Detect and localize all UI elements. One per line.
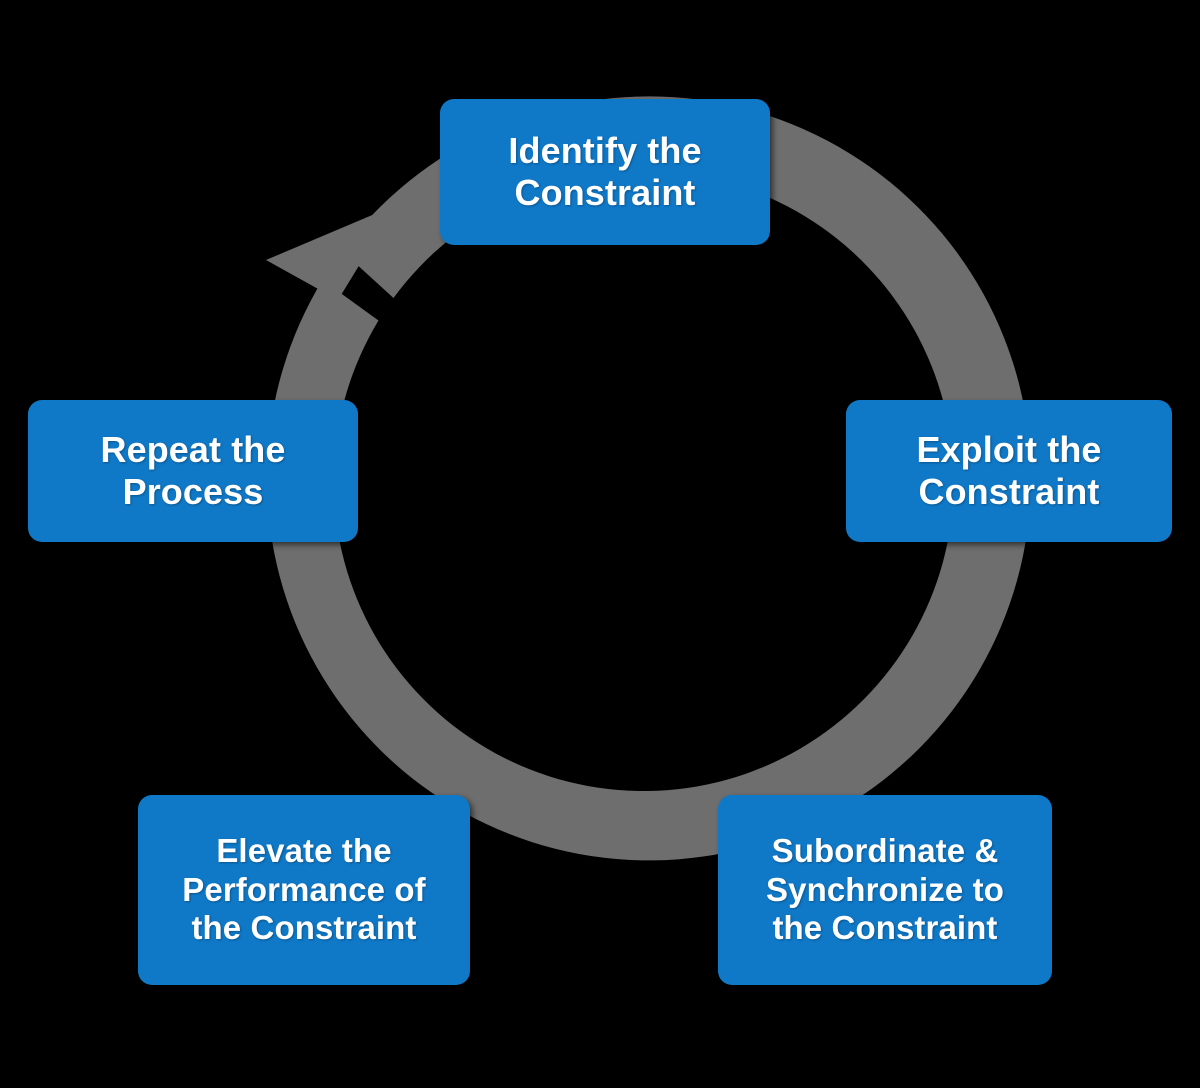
cycle-node-subordinate-label: Subordinate & Synchronize to the Constra… — [766, 832, 1004, 949]
cycle-node-repeat[interactable]: Repeat the Process — [28, 400, 358, 542]
cycle-node-exploit[interactable]: Exploit the Constraint — [846, 400, 1172, 542]
cycle-node-identify[interactable]: Identify the Constraint — [440, 99, 770, 245]
cycle-node-elevate[interactable]: Elevate the Performance of the Constrain… — [138, 795, 470, 985]
cycle-node-exploit-label: Exploit the Constraint — [916, 429, 1101, 514]
cycle-node-subordinate[interactable]: Subordinate & Synchronize to the Constra… — [718, 795, 1052, 985]
cycle-node-repeat-label: Repeat the Process — [100, 429, 285, 514]
cycle-node-elevate-label: Elevate the Performance of the Constrain… — [182, 832, 425, 949]
cycle-node-identify-label: Identify the Constraint — [508, 130, 701, 215]
cycle-diagram: Identify the Constraint Exploit the Cons… — [0, 0, 1200, 1088]
